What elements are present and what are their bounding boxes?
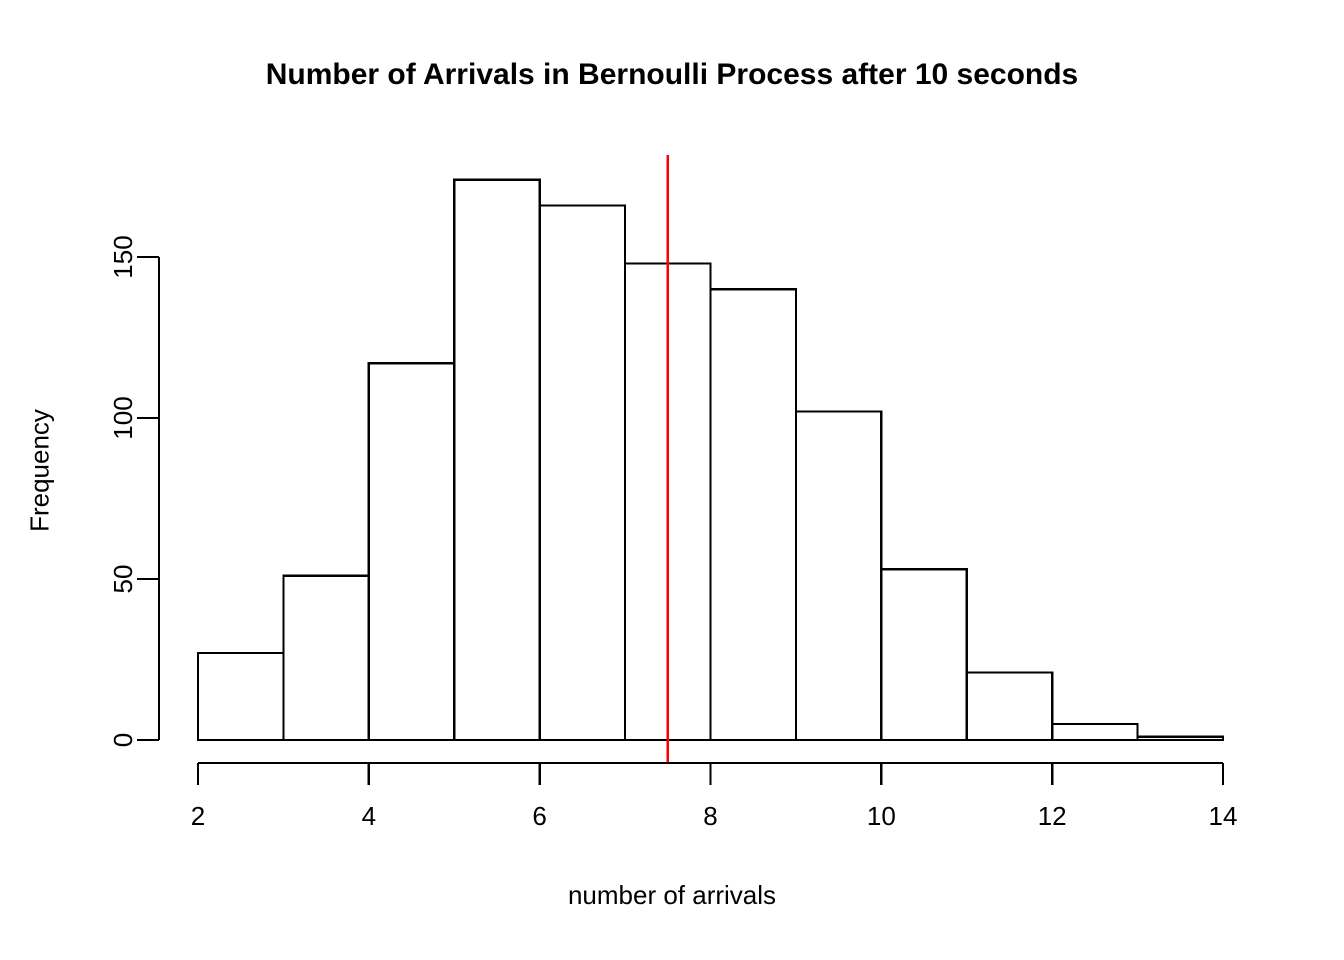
histogram-bar (369, 363, 454, 740)
histogram-bar (711, 289, 796, 740)
y-axis-tick-label: 0 (108, 733, 138, 747)
y-axis: 050100150 (108, 235, 159, 747)
x-axis-tick-label: 14 (1209, 801, 1238, 831)
x-axis-tick-label: 8 (703, 801, 717, 831)
x-axis-label: number of arrivals (0, 880, 1344, 911)
x-axis-tick-label: 10 (867, 801, 896, 831)
histogram-canvas: 050100150 2468101214 (0, 0, 1344, 960)
histogram-bar (1052, 724, 1137, 740)
histogram-bar (198, 653, 283, 740)
histogram-bar (881, 569, 966, 740)
x-axis-tick-label: 6 (532, 801, 546, 831)
x-axis-tick-label: 2 (191, 801, 205, 831)
histogram-bar (540, 205, 625, 740)
x-axis-tick-label: 4 (362, 801, 376, 831)
y-axis-tick-label: 100 (108, 396, 138, 439)
y-axis-label: Frequency (25, 371, 56, 571)
plot-root: Number of Arrivals in Bernoulli Process … (0, 0, 1344, 960)
histogram-bars (197, 180, 1224, 740)
y-axis-tick-label: 150 (108, 235, 138, 278)
x-axis: 2468101214 (191, 763, 1238, 831)
histogram-bar (796, 412, 881, 740)
histogram-bar (967, 672, 1052, 740)
histogram-bar (454, 180, 539, 740)
x-axis-tick-label: 12 (1038, 801, 1067, 831)
histogram-bar (283, 576, 368, 740)
y-axis-tick-label: 50 (108, 565, 138, 594)
